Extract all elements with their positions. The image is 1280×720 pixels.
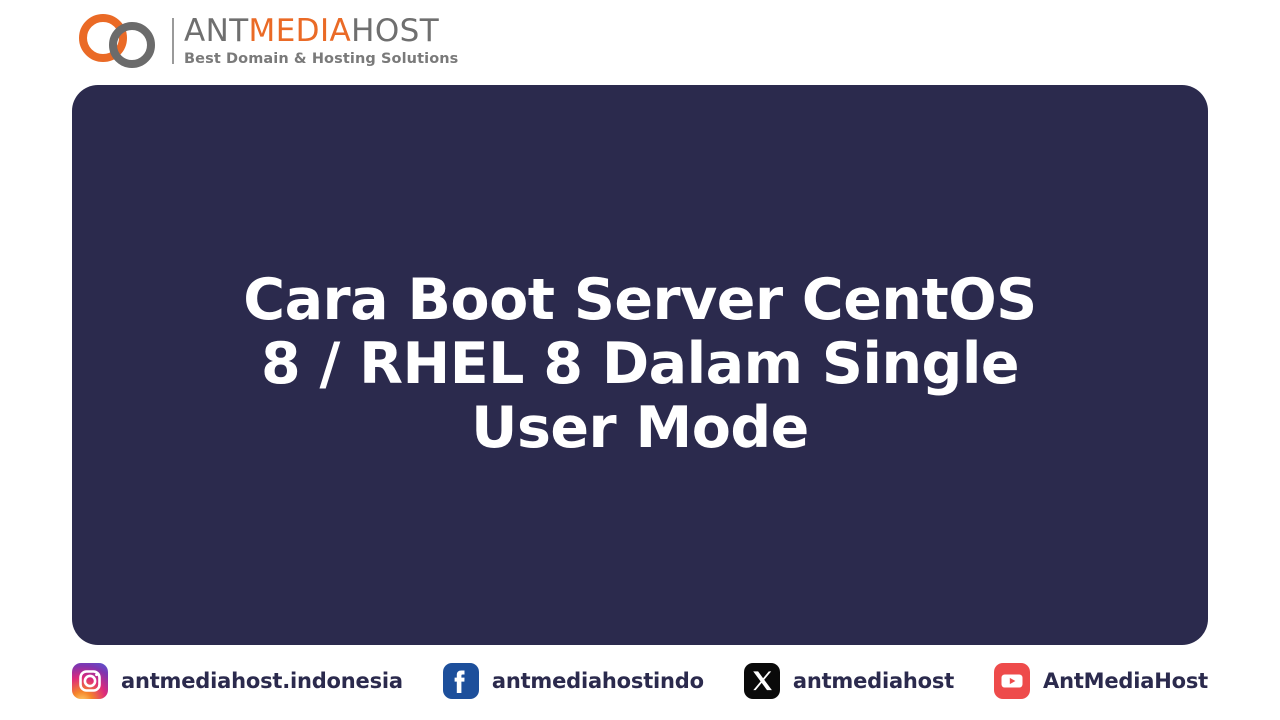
- social-item-facebook[interactable]: antmediahostindo: [443, 663, 704, 699]
- facebook-icon[interactable]: [443, 663, 479, 699]
- logo-tagline: Best Domain & Hosting Solutions: [184, 52, 458, 67]
- instagram-icon[interactable]: [72, 663, 108, 699]
- title-card: Cara Boot Server CentOS 8 / RHEL 8 Dalam…: [72, 85, 1208, 645]
- social-item-instagram[interactable]: antmediahost.indonesia: [72, 663, 403, 699]
- social-label-youtube: AntMediaHost: [1043, 669, 1208, 693]
- logo-wordmark: ANTMEDIAHOST: [184, 16, 458, 47]
- logo-wordmark-ant: ANT: [184, 13, 249, 49]
- social-item-x-twitter[interactable]: antmediahost: [744, 663, 954, 699]
- page-title: Cara Boot Server CentOS 8 / RHEL 8 Dalam…: [235, 269, 1045, 460]
- infinity-loop-icon: [72, 13, 164, 69]
- social-label-facebook: antmediahostindo: [492, 669, 704, 693]
- logo-wordmark-host: HOST: [351, 13, 439, 49]
- social-footer: antmediahost.indonesia antmediahostindo …: [72, 658, 1208, 703]
- logo-wordmark-media: MEDIA: [249, 13, 352, 49]
- youtube-icon[interactable]: [994, 663, 1030, 699]
- social-label-instagram: antmediahost.indonesia: [121, 669, 403, 693]
- social-item-youtube[interactable]: AntMediaHost: [994, 663, 1208, 699]
- logo-text-block: ANTMEDIAHOST Best Domain & Hosting Solut…: [184, 16, 458, 67]
- logo-divider: [172, 18, 174, 64]
- social-label-x-twitter: antmediahost: [793, 669, 954, 693]
- brand-header: ANTMEDIAHOST Best Domain & Hosting Solut…: [72, 8, 458, 74]
- x-twitter-icon[interactable]: [744, 663, 780, 699]
